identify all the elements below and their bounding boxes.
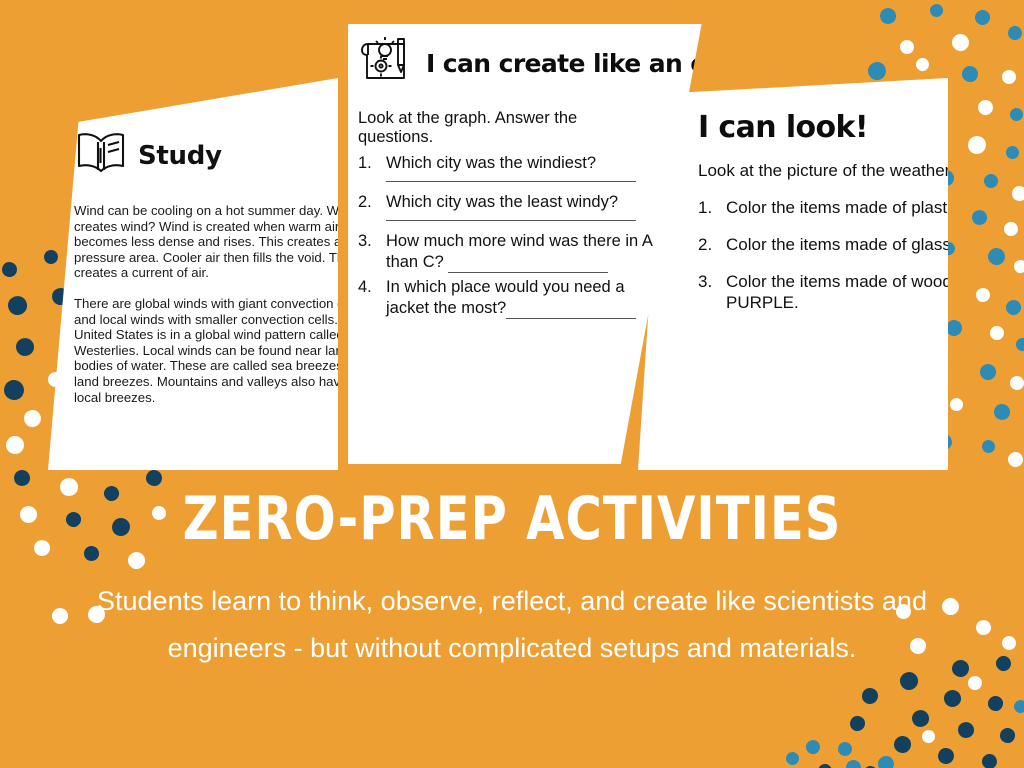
question-number: 3. xyxy=(358,231,376,273)
confetti-dot xyxy=(987,247,1007,267)
confetti-dot xyxy=(1009,375,1024,391)
confetti-dot xyxy=(862,688,879,705)
item-text: Color the items made of glass xyxy=(726,234,948,255)
confetti-dot xyxy=(922,730,936,744)
confetti-dot xyxy=(992,402,1013,423)
question-item: 2. Which city was the least windy? xyxy=(358,192,658,213)
look-card-title: I can look! xyxy=(698,110,948,145)
slide-canvas: Study Wind can be cooling on a hot summe… xyxy=(0,0,1024,768)
confetti-dot xyxy=(20,406,44,430)
confetti-dot xyxy=(12,468,33,489)
answer-blank-line[interactable] xyxy=(386,180,636,182)
page-title: ZERO-PREP ACTIVITIES xyxy=(41,484,983,554)
question-text: In which place would you need a jacket t… xyxy=(386,277,658,319)
question-item: 1. Which city was the windiest? xyxy=(358,153,658,174)
confetti-dot xyxy=(862,764,879,768)
confetti-dot xyxy=(42,248,60,266)
confetti-dot xyxy=(1011,185,1024,202)
confetti-dot xyxy=(927,1,945,19)
confetti-dot xyxy=(1006,24,1024,42)
question-item: 3. How much more wind was there in A tha… xyxy=(358,231,658,273)
confetti-dot xyxy=(977,361,999,383)
confetti-dot xyxy=(6,436,24,454)
worksheet-card-study[interactable]: Study Wind can be cooling on a hot summe… xyxy=(48,78,338,470)
question-text: How much more wind was there in A than C… xyxy=(386,231,658,273)
confetti-dot xyxy=(850,716,866,732)
open-book-icon xyxy=(74,130,128,181)
confetti-dot xyxy=(845,759,863,768)
confetti-dot xyxy=(909,707,933,731)
confetti-dot xyxy=(1005,449,1024,470)
confetti-dot xyxy=(979,751,1000,768)
confetti-dot xyxy=(49,605,71,627)
answer-blank-line[interactable] xyxy=(386,219,636,221)
item-number: 1. xyxy=(698,197,714,218)
confetti-dot xyxy=(1014,336,1024,353)
question-number: 2. xyxy=(358,192,376,213)
confetti-dot xyxy=(1009,107,1024,123)
confetti-dot xyxy=(4,380,25,401)
confetti-dot xyxy=(17,503,41,527)
confetti-dot xyxy=(1001,219,1021,239)
list-item: 3. Color the items made of wood PURPLE. xyxy=(698,271,948,313)
confetti-dot xyxy=(987,695,1003,711)
confetti-dot xyxy=(973,285,993,305)
question-item: 4. In which place would you need a jacke… xyxy=(358,277,658,319)
confetti-dot xyxy=(949,397,965,413)
confetti-dot xyxy=(877,5,898,26)
list-item: 1. Color the items made of plastic BLUE. xyxy=(698,197,948,218)
confetti-dot xyxy=(982,440,996,454)
confetti-dot xyxy=(864,58,889,83)
confetti-dot xyxy=(973,8,991,26)
confetti-dot xyxy=(893,735,912,754)
question-text: Which city was the least windy? xyxy=(386,192,658,213)
study-paragraph-1: Wind can be cooling on a hot summer day.… xyxy=(74,203,338,281)
study-card-title: Study xyxy=(138,141,222,171)
confetti-dot xyxy=(950,32,971,53)
study-paragraph-2: There are global winds with giant convec… xyxy=(74,296,338,405)
confetti-dot xyxy=(973,617,994,638)
confetti-dot xyxy=(1001,635,1018,652)
answer-blank-line[interactable] xyxy=(506,306,636,319)
confetti-dot xyxy=(784,750,800,766)
blueprint-lightbulb-pencil-icon xyxy=(358,32,416,95)
confetti-dot xyxy=(4,292,31,319)
question-number: 1. xyxy=(358,153,376,174)
confetti-dot xyxy=(975,97,996,118)
engineer-card-title: I can create like an engineer! xyxy=(426,49,720,78)
confetti-dot xyxy=(999,727,1015,743)
confetti-dot xyxy=(1,261,18,278)
confetti-dot xyxy=(941,687,965,711)
confetti-dot xyxy=(817,763,833,768)
confetti-dot xyxy=(1012,698,1024,714)
confetti-dot xyxy=(966,134,988,156)
confetti-dot xyxy=(803,737,822,756)
look-instruction-list: 1. Color the items made of plastic BLUE.… xyxy=(698,197,948,313)
confetti-dot xyxy=(1011,257,1024,275)
confetti-dot xyxy=(962,66,979,83)
confetti-dot xyxy=(1005,145,1020,160)
confetti-dot xyxy=(937,747,956,766)
confetti-dot xyxy=(1000,68,1018,86)
question-text: Which city was the windiest? xyxy=(386,153,658,174)
confetti-dot xyxy=(1004,298,1024,318)
look-card-lead: Look at the picture of the weather. xyxy=(698,161,948,181)
worksheet-card-look[interactable]: I can look! Look at the picture of the w… xyxy=(638,78,948,470)
item-number: 2. xyxy=(698,234,714,255)
confetti-dot xyxy=(966,674,983,691)
confetti-dot xyxy=(969,207,990,228)
item-text: Color the items made of wood PURPLE. xyxy=(726,271,948,313)
answer-blank-line[interactable] xyxy=(448,260,608,273)
confetti-dot xyxy=(955,719,977,741)
confetti-dot xyxy=(951,659,969,677)
study-card-header: Study xyxy=(74,130,328,181)
page-subtitle: Students learn to think, observe, reflec… xyxy=(72,578,952,672)
study-card-body: Wind can be cooling on a hot summer day.… xyxy=(74,203,338,405)
question-number: 4. xyxy=(358,277,376,319)
confetti-dot xyxy=(989,325,1006,342)
confetti-dot xyxy=(897,37,916,56)
item-text: Color the items made of plastic BLUE. xyxy=(726,197,948,218)
confetti-dot xyxy=(12,334,37,359)
list-item: 2. Color the items made of glass xyxy=(698,234,948,255)
confetti-dot xyxy=(914,56,930,72)
confetti-dot xyxy=(837,741,853,757)
engineer-card-header: I can create like an engineer! xyxy=(358,32,718,95)
confetti-dot xyxy=(981,171,1000,190)
engineer-card-lead: Look at the graph. Answer the questions. xyxy=(358,109,608,147)
confetti-dot xyxy=(875,753,898,768)
confetti-dot xyxy=(896,668,921,693)
confetti-dot xyxy=(993,653,1013,673)
item-number: 3. xyxy=(698,271,714,313)
